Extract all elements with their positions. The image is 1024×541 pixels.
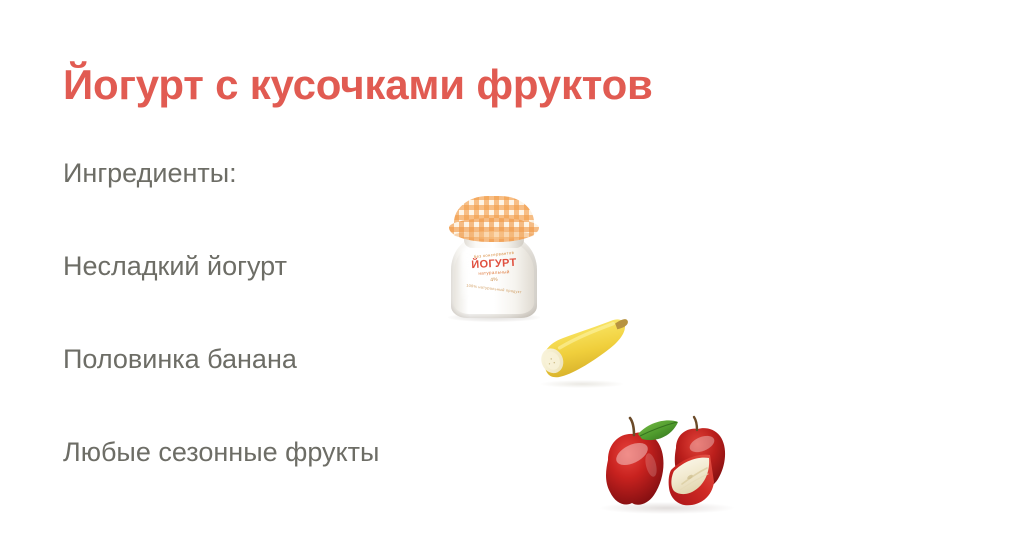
yogurt-jar-image: без консервантов ЙОГУРТ натуральный 4% 1…	[438, 196, 550, 322]
ingredient-item-2: Половинка банана	[63, 346, 533, 373]
apple-front-stem	[630, 418, 634, 435]
banana-image	[530, 308, 638, 392]
ingredient-item-3: Любые сезонные фрукты	[63, 439, 533, 466]
jar-highlight	[461, 248, 473, 300]
page-title: Йогурт с кусочками фруктов	[63, 63, 653, 107]
apple-back-stem	[694, 417, 697, 430]
apples-image	[592, 408, 742, 516]
ingredients-heading: Ингредиенты:	[63, 160, 533, 187]
slide-canvas: Йогурт с кусочками фруктов Ингредиенты: …	[0, 0, 1024, 541]
banana-body	[533, 312, 633, 385]
jar-tie-band	[454, 231, 534, 239]
